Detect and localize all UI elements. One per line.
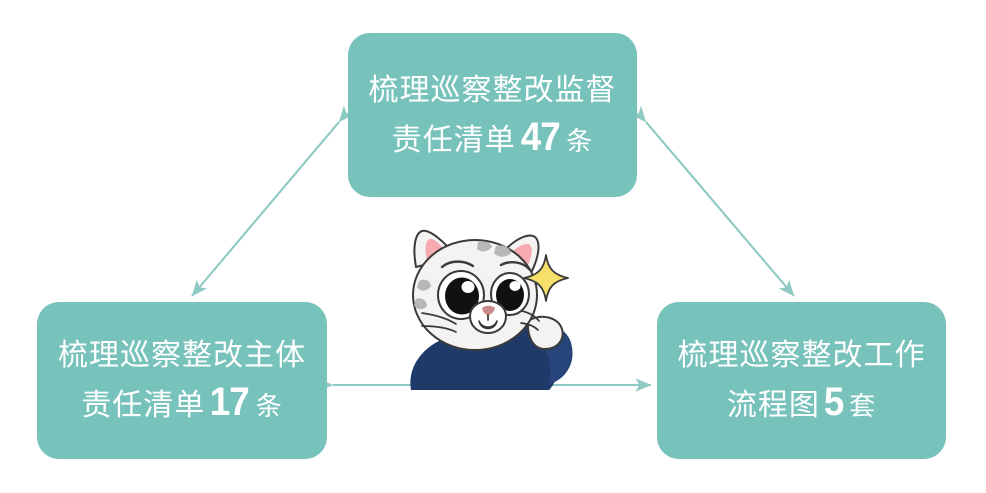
diagram-canvas: 梳理巡察整改监督 责任清单 47 条 梳理巡察整改主体 责任清单 17 条 梳理…: [0, 0, 986, 493]
node-left-number: 17: [207, 382, 252, 422]
node-right-text-1: 梳理巡察整改工作: [678, 333, 926, 378]
node-left-line-1: 梳理巡察整改主体: [58, 333, 306, 378]
node-right-number: 5: [821, 382, 846, 422]
connector-top-left: [192, 122, 339, 296]
node-right[interactable]: 梳理巡察整改工作 流程图 5 套: [657, 302, 946, 459]
node-top-line-1: 梳理巡察整改监督: [369, 68, 617, 113]
cat-eye-highlight-right: [510, 281, 521, 291]
connector-top-right: [646, 122, 794, 296]
node-right-unit: 套: [847, 386, 876, 423]
node-left[interactable]: 梳理巡察整改主体 责任清单 17 条: [37, 302, 327, 459]
cat-paw: [528, 317, 563, 349]
node-top-unit: 条: [564, 121, 593, 158]
cat-mascot-icon: [378, 215, 598, 390]
node-left-text-1: 梳理巡察整改主体: [58, 333, 306, 378]
node-left-line-2: 责任清单 17 条: [81, 382, 283, 428]
node-top[interactable]: 梳理巡察整改监督 责任清单 47 条: [348, 33, 637, 197]
node-right-line-2: 流程图 5 套: [727, 382, 876, 428]
node-top-text-1: 梳理巡察整改监督: [369, 68, 617, 113]
node-top-text-2: 责任清单: [392, 118, 516, 163]
node-left-unit: 条: [254, 386, 283, 423]
node-left-text-2: 责任清单: [81, 383, 205, 428]
node-right-text-2: 流程图: [727, 383, 820, 428]
node-right-line-1: 梳理巡察整改工作: [678, 333, 926, 378]
node-top-number: 47: [518, 117, 563, 157]
cat-eye-highlight-left: [462, 281, 475, 293]
node-top-line-2: 责任清单 47 条: [392, 117, 594, 163]
